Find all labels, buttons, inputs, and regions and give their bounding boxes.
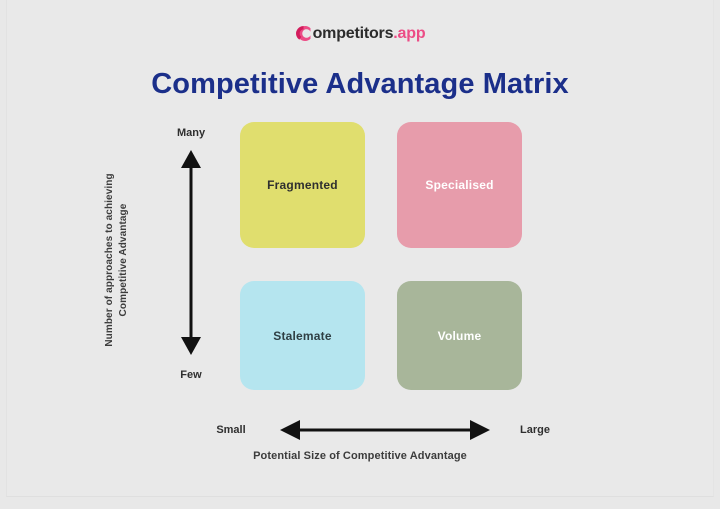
quadrant-stalemate: Stalemate bbox=[240, 281, 365, 390]
quadrant-specialised: Specialised bbox=[397, 122, 522, 248]
matrix-infographic-page: ompetitors.app Competitive Advantage Mat… bbox=[0, 0, 720, 509]
y-axis-title-line-1: Number of approaches to achieving bbox=[103, 130, 117, 390]
quadrant-label: Specialised bbox=[425, 178, 493, 192]
quadrant-label: Fragmented bbox=[267, 178, 338, 192]
brand-logo: ompetitors.app bbox=[0, 22, 720, 46]
page-title: Competitive Advantage Matrix bbox=[0, 68, 720, 101]
double-headed-vertical-arrow-icon bbox=[176, 150, 206, 355]
double-headed-horizontal-arrow-icon bbox=[280, 418, 490, 442]
y-axis-high-label: Many bbox=[150, 127, 232, 139]
quadrant-label: Volume bbox=[438, 329, 482, 343]
quadrant-fragmented: Fragmented bbox=[240, 122, 365, 248]
y-axis-title: Number of approaches to achieving Compet… bbox=[103, 130, 131, 390]
x-axis-title: Potential Size of Competitive Advantage bbox=[0, 450, 720, 462]
brand-tld: .app bbox=[393, 25, 425, 42]
x-axis-high-label: Large bbox=[500, 424, 570, 436]
x-axis-low-label: Small bbox=[196, 424, 266, 436]
brand-name: ompetitors bbox=[313, 25, 394, 42]
competitors-c-logo-icon bbox=[295, 25, 312, 42]
y-axis-low-label: Few bbox=[150, 369, 232, 381]
quadrant-label: Stalemate bbox=[273, 329, 332, 343]
quadrant-volume: Volume bbox=[397, 281, 522, 390]
y-axis-title-line-2: Competitive Advantage bbox=[117, 130, 131, 390]
